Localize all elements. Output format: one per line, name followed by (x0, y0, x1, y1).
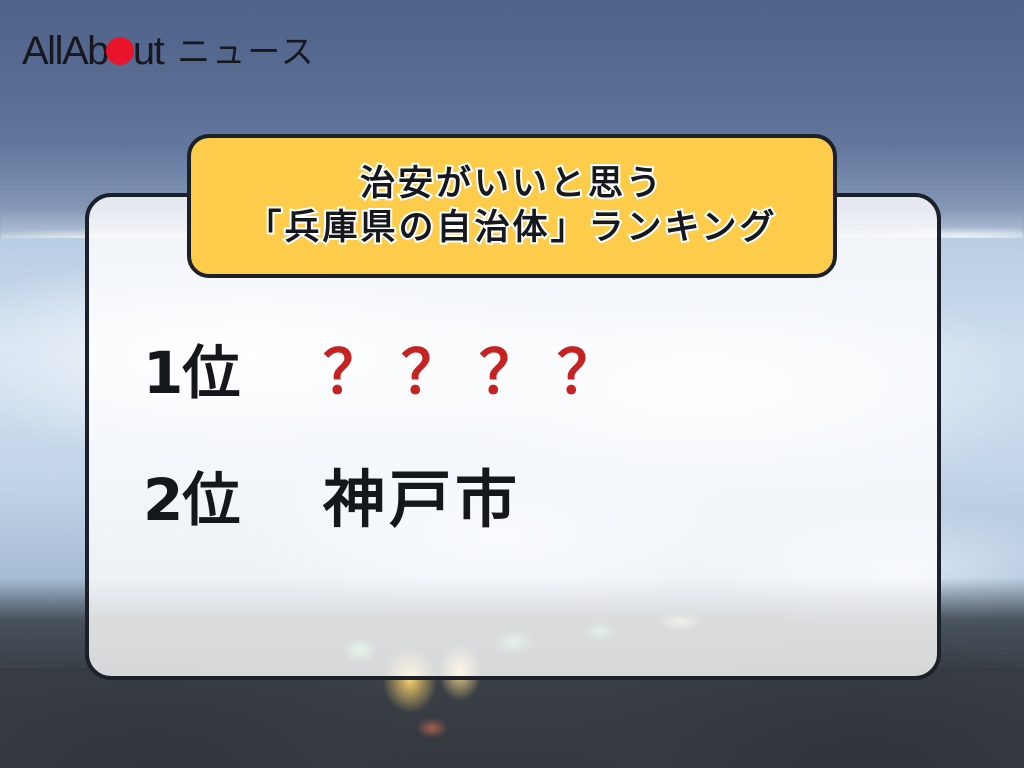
ranking-row-2: 2位 神戸市 (143, 469, 937, 531)
rank-name-2: 神戸市 (323, 469, 521, 531)
rank-position-1: 1位 (143, 344, 323, 402)
rank-position-2: 2位 (143, 471, 323, 529)
title-banner: 治安がいいと思う 「兵庫県の自治体」ランキング (187, 134, 837, 278)
ranking-row-1: 1位 ？？？？ (143, 343, 937, 403)
red-circle-icon (106, 37, 134, 65)
rank-name-1: ？？？？ (323, 343, 635, 403)
brand-logo-prefix: AllAb (22, 31, 108, 71)
brand-logo-jp-label: ニュース (177, 35, 315, 68)
brand-logo-mark: AllAb ut (22, 31, 163, 71)
brand-logo-suffix: ut (133, 31, 163, 71)
title-line-1: 治安がいいと思う (360, 164, 664, 204)
slide-canvas: AllAb ut ニュース 1位 ？？？？ 2位 神戸市 治安がいいと思う 「兵… (0, 0, 1024, 768)
brand-logo: AllAb ut ニュース (22, 28, 316, 74)
title-line-2: 「兵庫県の自治体」ランキング (247, 208, 778, 248)
